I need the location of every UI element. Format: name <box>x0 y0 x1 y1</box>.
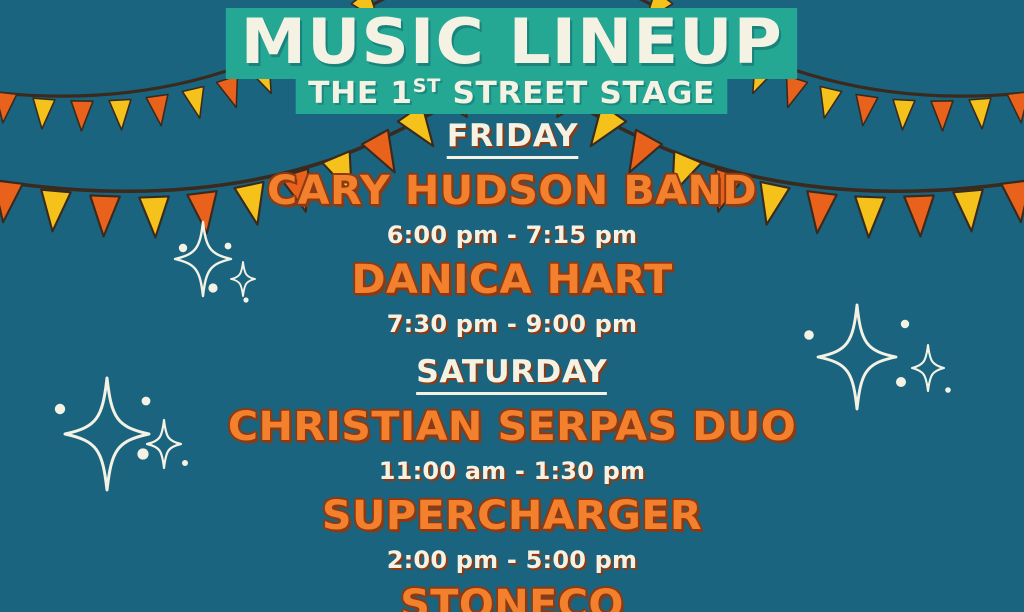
act-time: 11:00 am - 1:30 pm <box>0 457 1024 485</box>
music-lineup-poster: MUSIC LINEUP THE 1ST STREET STAGE FRIDAY… <box>0 0 1024 612</box>
act-name: CARY HUDSON BAND <box>0 168 1024 214</box>
act-time: 2:00 pm - 5:00 pm <box>0 546 1024 574</box>
lineup-list: FRIDAY CARY HUDSON BAND 6:00 pm - 7:15 p… <box>0 118 1024 612</box>
day-heading-saturday: SATURDAY <box>0 354 1024 395</box>
page-title: MUSIC LINEUP <box>226 8 798 79</box>
subtitle-post: STREET STAGE <box>441 76 715 111</box>
day-heading-friday: FRIDAY <box>0 118 1024 159</box>
day-label: SATURDAY <box>416 354 607 395</box>
act-time: 6:00 pm - 7:15 pm <box>0 221 1024 249</box>
day-label: FRIDAY <box>446 118 577 159</box>
poster-subtitle-wrap: THE 1ST STREET STAGE <box>0 75 1024 114</box>
act-name: STONECO <box>0 582 1024 612</box>
subtitle-ordinal-suffix: ST <box>413 76 441 97</box>
act-time: 7:30 pm - 9:00 pm <box>0 310 1024 338</box>
act-name: DANICA HART <box>0 257 1024 303</box>
subtitle-pre: THE 1 <box>309 76 413 111</box>
act-name: SUPERCHARGER <box>0 493 1024 539</box>
page-subtitle: THE 1ST STREET STAGE <box>296 75 728 114</box>
poster-title-block: MUSIC LINEUP THE 1ST STREET STAGE <box>0 8 1024 114</box>
act-name: CHRISTIAN SERPAS DUO <box>0 404 1024 450</box>
